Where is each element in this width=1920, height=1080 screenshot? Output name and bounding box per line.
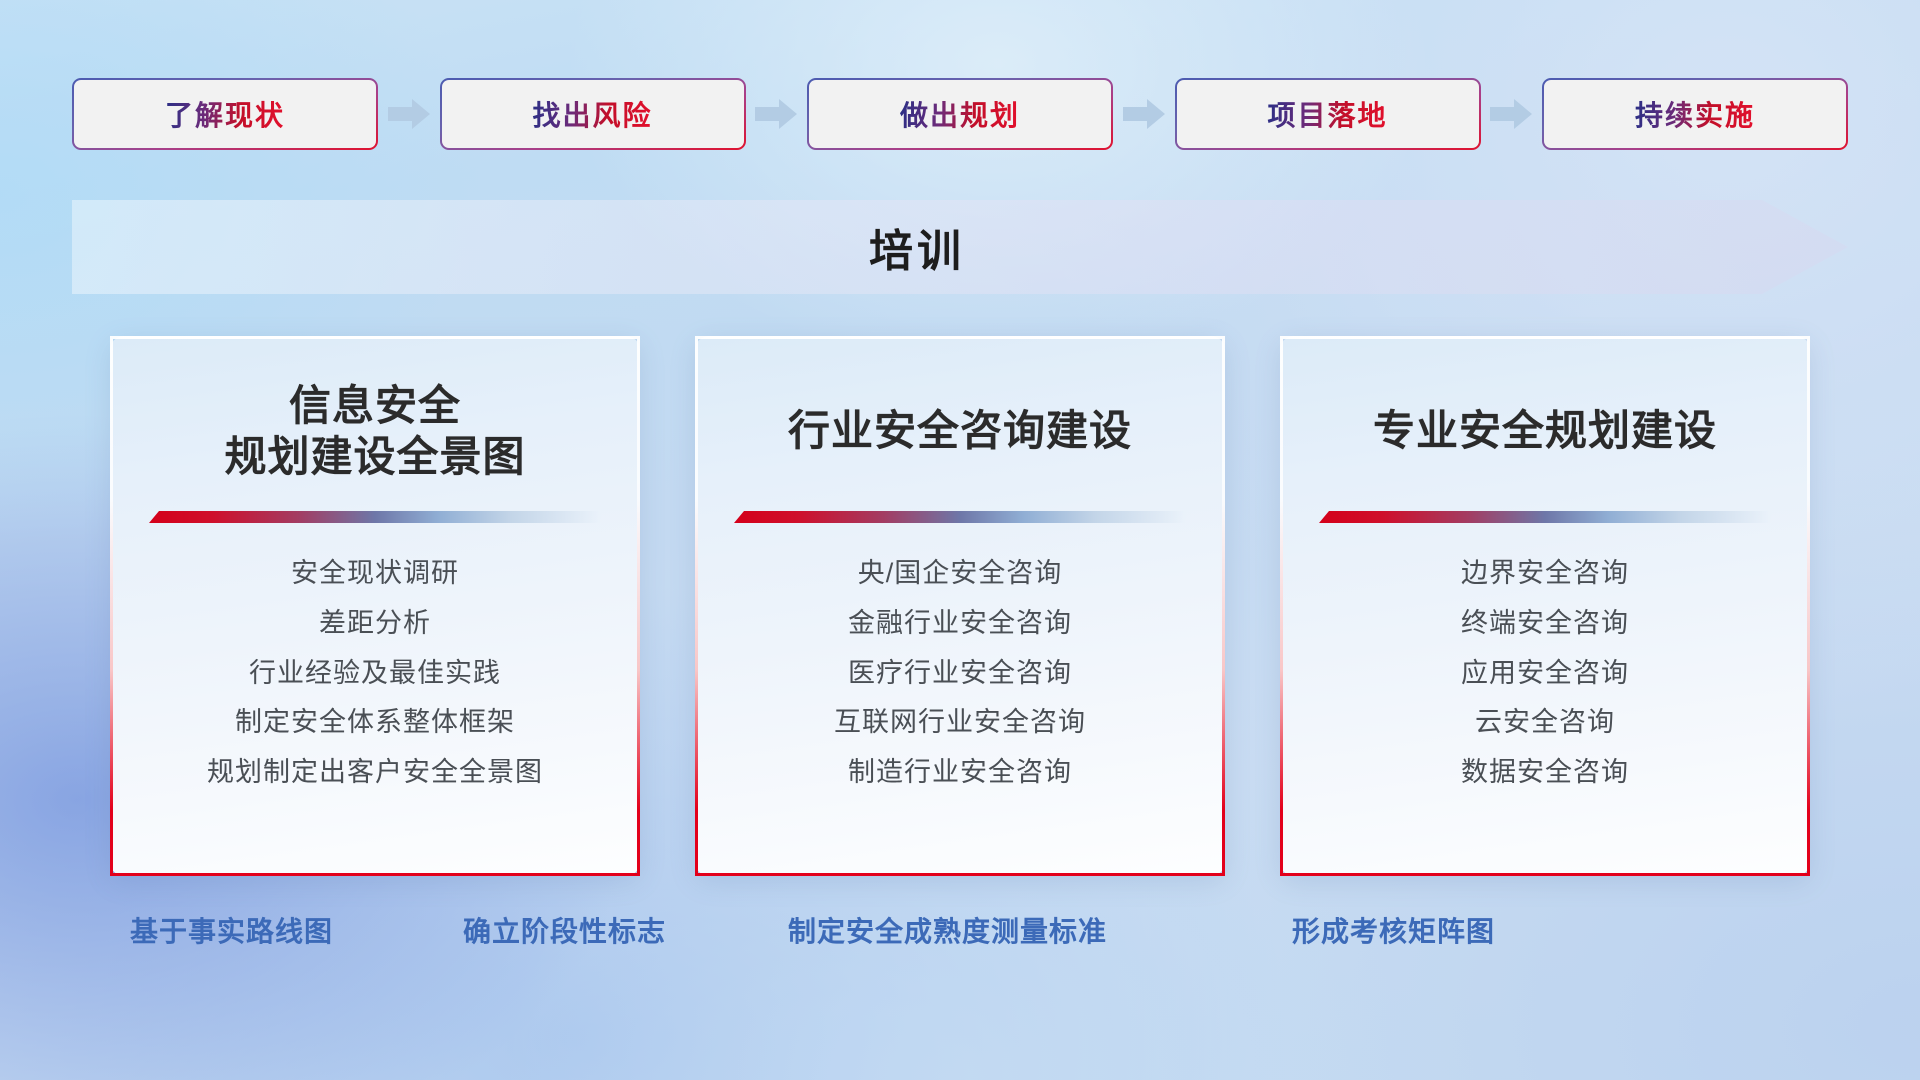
list-item: 医疗行业安全咨询 <box>848 657 1072 691</box>
list-item: 差距分析 <box>319 607 431 641</box>
caption-4: 形成考核矩阵图 <box>1292 910 1495 950</box>
step-box-2[interactable]: 找出风险 <box>440 78 746 150</box>
step-arrow-3 <box>1113 99 1175 129</box>
card-1-list: 安全现状调研 差距分析 行业经验及最佳实践 制定安全体系整体框架 规划制定出客户… <box>207 557 543 790</box>
card-1[interactable]: 信息安全 规划建设全景图 安全现状调研 差距分析 行业经验及最佳实践 制定安全体… <box>110 336 640 876</box>
step-arrow-2 <box>746 99 808 129</box>
step-box-4[interactable]: 项目落地 <box>1175 78 1481 150</box>
training-banner: 培训 <box>72 200 1848 294</box>
captions-row: 基于事实路线图 确立阶段性标志 制定安全成熟度测量标准 形成考核矩阵图 <box>0 910 1920 970</box>
process-steps-row: 了解现状 找出风险 做出规划 项目落地 <box>72 78 1848 150</box>
step-label-2: 找出风险 <box>532 94 652 134</box>
list-item: 边界安全咨询 <box>1461 557 1629 591</box>
cards-row: 信息安全 规划建设全景图 安全现状调研 差距分析 行业经验及最佳实践 制定安全体… <box>110 336 1810 876</box>
step-box-3[interactable]: 做出规划 <box>807 78 1113 150</box>
card-3[interactable]: 专业安全规划建设 边界安全咨询 终端安全咨询 应用安全咨询 云安全咨询 数据安全… <box>1280 336 1810 876</box>
step-box-5-inner: 持续实施 <box>1544 80 1846 148</box>
list-item: 制定安全体系整体框架 <box>235 706 515 740</box>
card-1-title-line-2: 规划建设全景图 <box>224 431 525 482</box>
card-1-title: 信息安全 规划建设全景图 <box>224 379 525 483</box>
card-2-divider <box>734 511 1186 523</box>
step-label-4: 项目落地 <box>1267 94 1387 134</box>
card-2[interactable]: 行业安全咨询建设 央/国企安全咨询 金融行业安全咨询 医疗行业安全咨询 互联网行… <box>695 336 1225 876</box>
list-item: 央/国企安全咨询 <box>858 557 1063 591</box>
list-item: 制造行业安全咨询 <box>848 756 1072 790</box>
list-item: 规划制定出客户安全全景图 <box>207 756 543 790</box>
list-item: 应用安全咨询 <box>1461 657 1629 691</box>
step-box-5[interactable]: 持续实施 <box>1542 78 1848 150</box>
list-item: 数据安全咨询 <box>1461 756 1629 790</box>
card-2-list: 央/国企安全咨询 金融行业安全咨询 医疗行业安全咨询 互联网行业安全咨询 制造行… <box>834 557 1086 790</box>
list-item: 金融行业安全咨询 <box>848 607 1072 641</box>
list-item: 互联网行业安全咨询 <box>834 706 1086 740</box>
step-label-5: 持续实施 <box>1635 94 1755 134</box>
step-box-3-inner: 做出规划 <box>809 80 1111 148</box>
step-label-3: 做出规划 <box>900 94 1020 134</box>
card-3-title-line-1: 专业安全规划建设 <box>1373 405 1717 456</box>
list-item: 云安全咨询 <box>1475 706 1615 740</box>
card-2-title-line-1: 行业安全咨询建设 <box>788 405 1132 456</box>
card-3-list: 边界安全咨询 终端安全咨询 应用安全咨询 云安全咨询 数据安全咨询 <box>1461 557 1629 790</box>
card-2-title: 行业安全咨询建设 <box>788 379 1132 483</box>
list-item: 安全现状调研 <box>291 557 459 591</box>
step-box-4-inner: 项目落地 <box>1177 80 1479 148</box>
card-3-divider <box>1319 511 1771 523</box>
caption-1: 基于事实路线图 <box>130 910 333 950</box>
card-1-divider <box>149 511 601 523</box>
step-label-1: 了解现状 <box>165 94 285 134</box>
card-3-title: 专业安全规划建设 <box>1373 379 1717 483</box>
step-box-1-inner: 了解现状 <box>74 80 376 148</box>
step-box-2-inner: 找出风险 <box>442 80 744 148</box>
list-item: 行业经验及最佳实践 <box>249 657 501 691</box>
caption-3: 制定安全成熟度测量标准 <box>788 910 1107 950</box>
step-arrow-4 <box>1481 99 1543 129</box>
training-banner-label: 培训 <box>72 200 1848 294</box>
list-item: 终端安全咨询 <box>1461 607 1629 641</box>
step-arrow-1 <box>378 99 440 129</box>
caption-2: 确立阶段性标志 <box>463 910 666 950</box>
card-1-title-line-1: 信息安全 <box>224 380 525 431</box>
step-box-1[interactable]: 了解现状 <box>72 78 378 150</box>
